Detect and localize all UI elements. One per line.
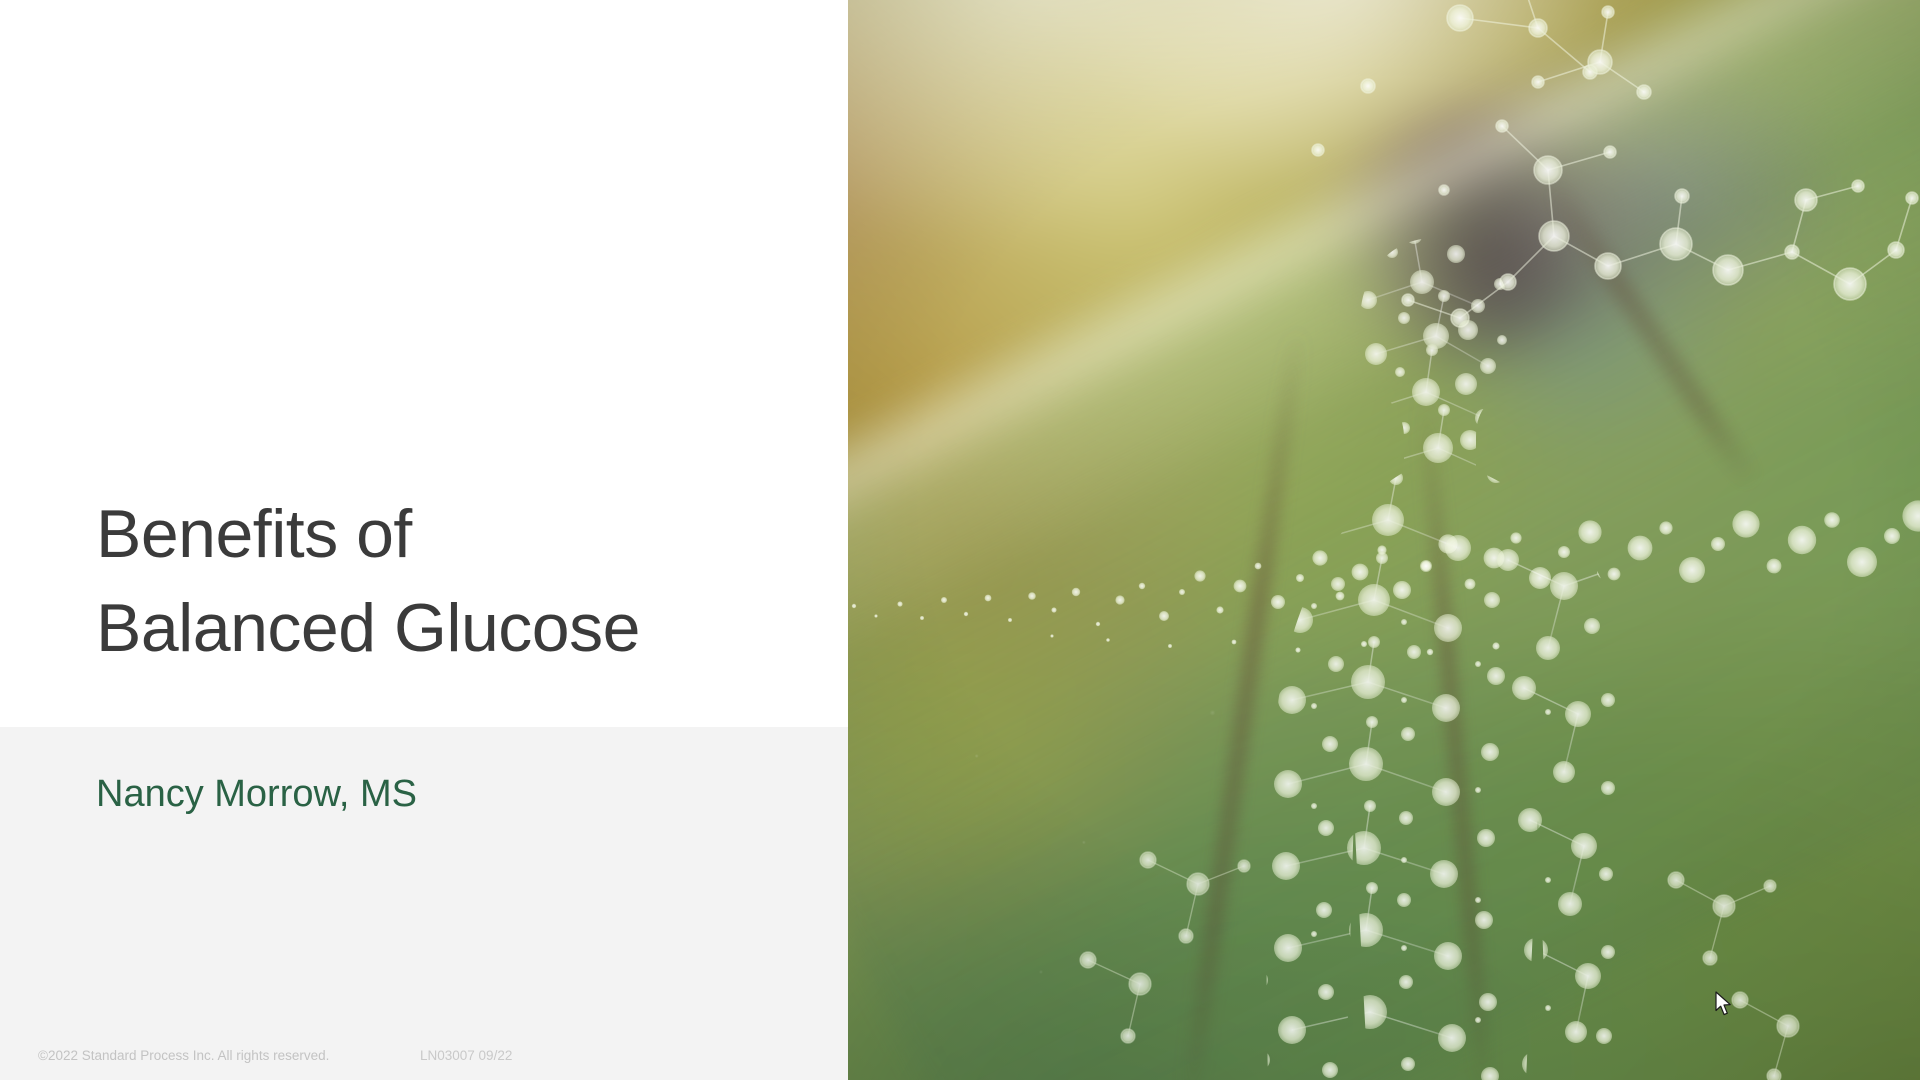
photo-vignette xyxy=(848,0,1920,1080)
page-title: Benefits of Balanced Glucose xyxy=(96,487,796,675)
title-line-1: Benefits of xyxy=(96,487,796,581)
title-line-2: Balanced Glucose xyxy=(96,581,796,675)
leaf-photograph xyxy=(848,0,1920,1080)
slide-footer: ©2022 Standard Process Inc. All rights r… xyxy=(38,1048,828,1068)
copyright-notice: ©2022 Standard Process Inc. All rights r… xyxy=(38,1048,329,1063)
presentation-slide: Benefits of Balanced Glucose Nancy Morro… xyxy=(0,0,1920,1080)
title-panel: Benefits of Balanced Glucose Nancy Morro… xyxy=(0,0,848,1080)
presenter-name: Nancy Morrow, MS xyxy=(96,773,417,816)
document-code: LN03007 09/22 xyxy=(420,1048,512,1063)
